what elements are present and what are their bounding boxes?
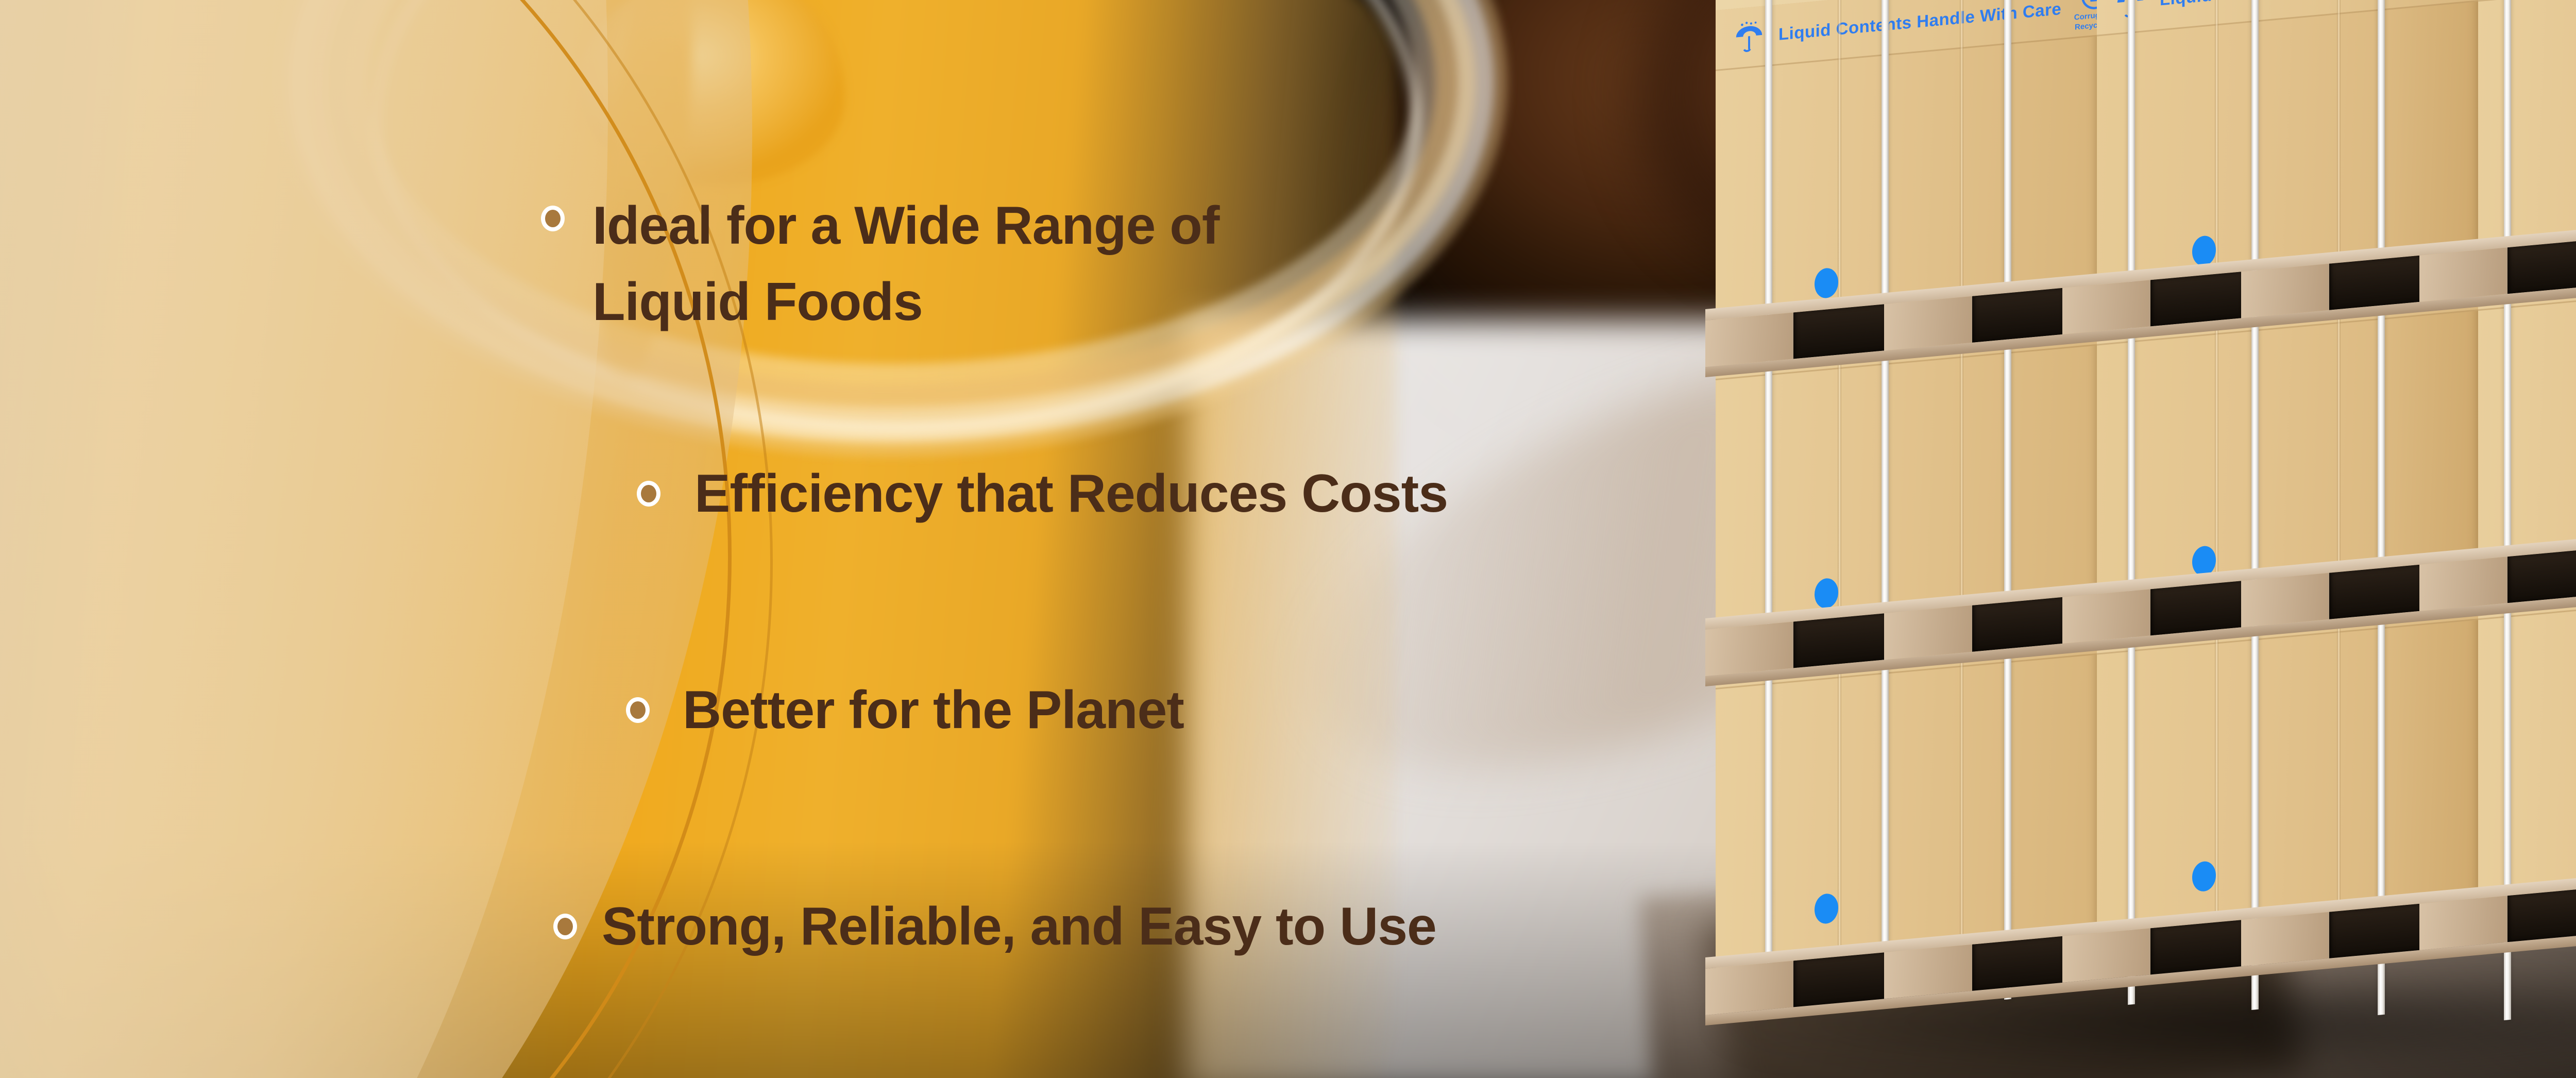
pallet-fork-opening bbox=[2507, 239, 2576, 294]
pp-strap bbox=[2004, 0, 2011, 1000]
blue-dot-marker bbox=[1815, 892, 1838, 924]
pallet-block bbox=[2419, 247, 2507, 302]
pallet-block bbox=[1884, 605, 1972, 660]
pallet-fork-opening bbox=[1972, 936, 2063, 991]
pp-strap bbox=[1765, 0, 1772, 995]
pp-strap bbox=[2128, 0, 2135, 1005]
pallet-block bbox=[2419, 557, 2507, 611]
bullet-text-2: Efficiency that Reduces Costs bbox=[694, 466, 1448, 521]
blue-dot-marker bbox=[1815, 577, 1838, 609]
carton-band-text: Liquid Contents Handle With Care bbox=[2160, 0, 2443, 9]
umbrella-keep-dry-icon bbox=[1733, 19, 1765, 55]
ring-circle-marker-icon bbox=[637, 481, 660, 507]
carton-print-band: Liquid Contents Handle With Care Corruga… bbox=[2478, 0, 2576, 2]
pp-strap bbox=[2504, 0, 2511, 1020]
carton-print-band: Liquid Contents Handle With Care Corruga… bbox=[1716, 0, 2097, 71]
pallet-fork-opening bbox=[2150, 272, 2241, 326]
list-item[interactable]: Strong, Reliable, and Easy to Use bbox=[553, 899, 1436, 954]
carton: Liquid Contents Handle With Care Corruga… bbox=[2478, 0, 2576, 271]
banner-root: Ideal for a Wide Range ofLiquid Foods Ef… bbox=[0, 0, 2576, 1078]
bullet-text-4: Strong, Reliable, and Easy to Use bbox=[602, 899, 1436, 954]
bullet-text-1: Ideal for a Wide Range ofLiquid Foods bbox=[592, 188, 1219, 340]
pallet-fork-opening bbox=[1793, 952, 1884, 1007]
blue-dot-marker bbox=[1815, 267, 1838, 299]
carton-seam bbox=[2337, 0, 2341, 283]
pallet-block bbox=[1705, 961, 1793, 1015]
pallet-fork-opening bbox=[2507, 887, 2576, 942]
benefits-list: Ideal for a Wide Range ofLiquid Foods Ef… bbox=[0, 0, 1700, 1078]
pallet-block bbox=[2241, 264, 2329, 318]
pallet-fork-opening bbox=[2329, 565, 2420, 619]
ring-circle-marker-icon bbox=[553, 914, 577, 939]
pallet-fork-opening bbox=[1793, 613, 1884, 668]
pallet-block bbox=[2062, 280, 2150, 334]
pallet-block bbox=[1884, 296, 1972, 351]
palletized-carton-stack: Liquid Contents Handle With Care Corruga… bbox=[1716, 10, 2576, 1031]
pallet-fork-opening bbox=[1972, 597, 2063, 652]
pp-strap bbox=[2251, 0, 2259, 1010]
list-item[interactable]: Efficiency that Reduces Costs bbox=[637, 466, 1448, 521]
recyclable-label-line1: Corrugated bbox=[2074, 10, 2097, 22]
list-item[interactable]: Better for the Planet bbox=[626, 683, 1184, 737]
ring-circle-marker-icon bbox=[626, 697, 650, 723]
pallet-fork-opening bbox=[2329, 904, 2420, 958]
pallet-block bbox=[2241, 573, 2329, 628]
pallet-block bbox=[1705, 621, 1793, 676]
pp-strap bbox=[2378, 0, 2385, 1015]
pallet-fork-opening bbox=[2329, 256, 2420, 310]
pallet-block bbox=[2062, 928, 2150, 983]
pallet-fork-opening bbox=[1972, 288, 2063, 343]
blue-dot-marker bbox=[2192, 235, 2216, 267]
bullet-text-3: Better for the Planet bbox=[683, 683, 1184, 737]
list-item[interactable]: Ideal for a Wide Range ofLiquid Foods bbox=[541, 188, 1219, 340]
carton-seam bbox=[1960, 0, 1963, 318]
corrugated-recyclable-icon: Corrugated Recyclable bbox=[2075, 0, 2097, 31]
ring-circle-marker-icon bbox=[541, 206, 565, 231]
carton-seam bbox=[1838, 0, 1841, 329]
blue-dot-marker bbox=[2192, 861, 2216, 892]
pallet-block bbox=[2062, 589, 2150, 644]
pallet-block bbox=[2241, 912, 2329, 967]
carton-print-band: Liquid Contents Handle With Care Corruga… bbox=[2097, 0, 2478, 37]
pallet-block bbox=[2419, 896, 2507, 950]
carton-band-text: Liquid Contents Handle With Care bbox=[1778, 0, 2061, 44]
pallet-fork-opening bbox=[2507, 548, 2576, 603]
pp-strap bbox=[1882, 0, 1889, 995]
pallet-fork-opening bbox=[1793, 304, 1884, 359]
pallet-fork-opening bbox=[2150, 581, 2241, 635]
pallet-block bbox=[1705, 312, 1793, 367]
pallet-fork-opening bbox=[2150, 920, 2241, 974]
pallet-block bbox=[1884, 945, 1972, 999]
